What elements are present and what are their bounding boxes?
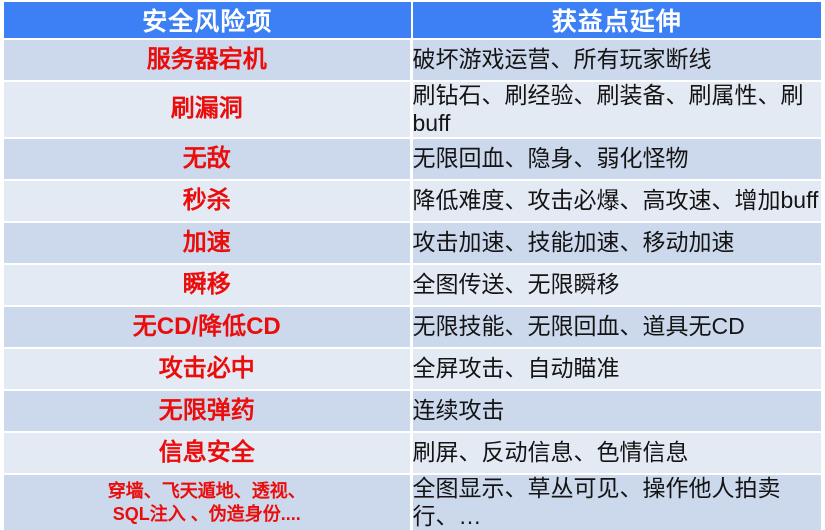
risk-benefit-table: 安全风险项 获益点延伸 服务器宕机 破坏游戏运营、所有玩家断线 刷漏洞 刷钻石、… <box>4 2 821 530</box>
cell-benefit: 连续攻击 <box>413 389 822 431</box>
cell-benefit: 刷钻石、刷经验、刷装备、刷属性、刷buff <box>413 80 822 137</box>
table-row: 信息安全 刷屏、反动信息、色情信息 <box>4 431 821 473</box>
cell-risk: 服务器宕机 <box>4 38 413 80</box>
table-row: 穿墙、飞天遁地、透视、 SQL注入 、伪造身份.... 全图显示、草丛可见、操作… <box>4 473 821 530</box>
cell-risk: 无限弹药 <box>4 389 413 431</box>
cell-risk-line-2: SQL注入 、伪造身份.... <box>4 503 410 526</box>
cell-risk: 刷漏洞 <box>4 80 413 137</box>
table-row: 攻击必中 全屏攻击、自动瞄准 <box>4 347 821 389</box>
cell-risk: 秒杀 <box>4 179 413 221</box>
cell-benefit: 全图传送、无限瞬移 <box>413 263 822 305</box>
cell-benefit: 破坏游戏运营、所有玩家断线 <box>413 38 822 80</box>
cell-benefit: 全屏攻击、自动瞄准 <box>413 347 822 389</box>
cell-benefit: 全图显示、草丛可见、操作他人拍卖行、… <box>413 473 822 530</box>
cell-benefit: 无限回血、隐身、弱化怪物 <box>413 137 822 179</box>
table-row: 秒杀 降低难度、攻击必爆、高攻速、增加buff <box>4 179 821 221</box>
cell-risk: 无CD/降低CD <box>4 305 413 347</box>
cell-benefit: 攻击加速、技能加速、移动加速 <box>413 221 822 263</box>
table-body: 服务器宕机 破坏游戏运营、所有玩家断线 刷漏洞 刷钻石、刷经验、刷装备、刷属性、… <box>4 38 821 530</box>
table-row: 刷漏洞 刷钻石、刷经验、刷装备、刷属性、刷buff <box>4 80 821 137</box>
table-row: 加速 攻击加速、技能加速、移动加速 <box>4 221 821 263</box>
table-header-row: 安全风险项 获益点延伸 <box>4 2 821 38</box>
table-header: 安全风险项 获益点延伸 <box>4 2 821 38</box>
cell-risk: 加速 <box>4 221 413 263</box>
cell-risk: 攻击必中 <box>4 347 413 389</box>
cell-risk: 穿墙、飞天遁地、透视、 SQL注入 、伪造身份.... <box>4 473 413 530</box>
column-header-benefit-extension: 获益点延伸 <box>413 2 822 38</box>
table-row: 无CD/降低CD 无限技能、无限回血、道具无CD <box>4 305 821 347</box>
risk-benefit-table-container: 安全风险项 获益点延伸 服务器宕机 破坏游戏运营、所有玩家断线 刷漏洞 刷钻石、… <box>4 2 821 498</box>
cell-benefit: 刷屏、反动信息、色情信息 <box>413 431 822 473</box>
cell-risk: 瞬移 <box>4 263 413 305</box>
cell-benefit: 无限技能、无限回血、道具无CD <box>413 305 822 347</box>
cell-risk: 信息安全 <box>4 431 413 473</box>
cell-benefit: 降低难度、攻击必爆、高攻速、增加buff <box>413 179 822 221</box>
table-row: 瞬移 全图传送、无限瞬移 <box>4 263 821 305</box>
table-row: 服务器宕机 破坏游戏运营、所有玩家断线 <box>4 38 821 80</box>
table-row: 无敌 无限回血、隐身、弱化怪物 <box>4 137 821 179</box>
cell-risk-line-1: 穿墙、飞天遁地、透视、 <box>4 480 410 503</box>
cell-risk: 无敌 <box>4 137 413 179</box>
table-row: 无限弹药 连续攻击 <box>4 389 821 431</box>
column-header-security-risk: 安全风险项 <box>4 2 413 38</box>
